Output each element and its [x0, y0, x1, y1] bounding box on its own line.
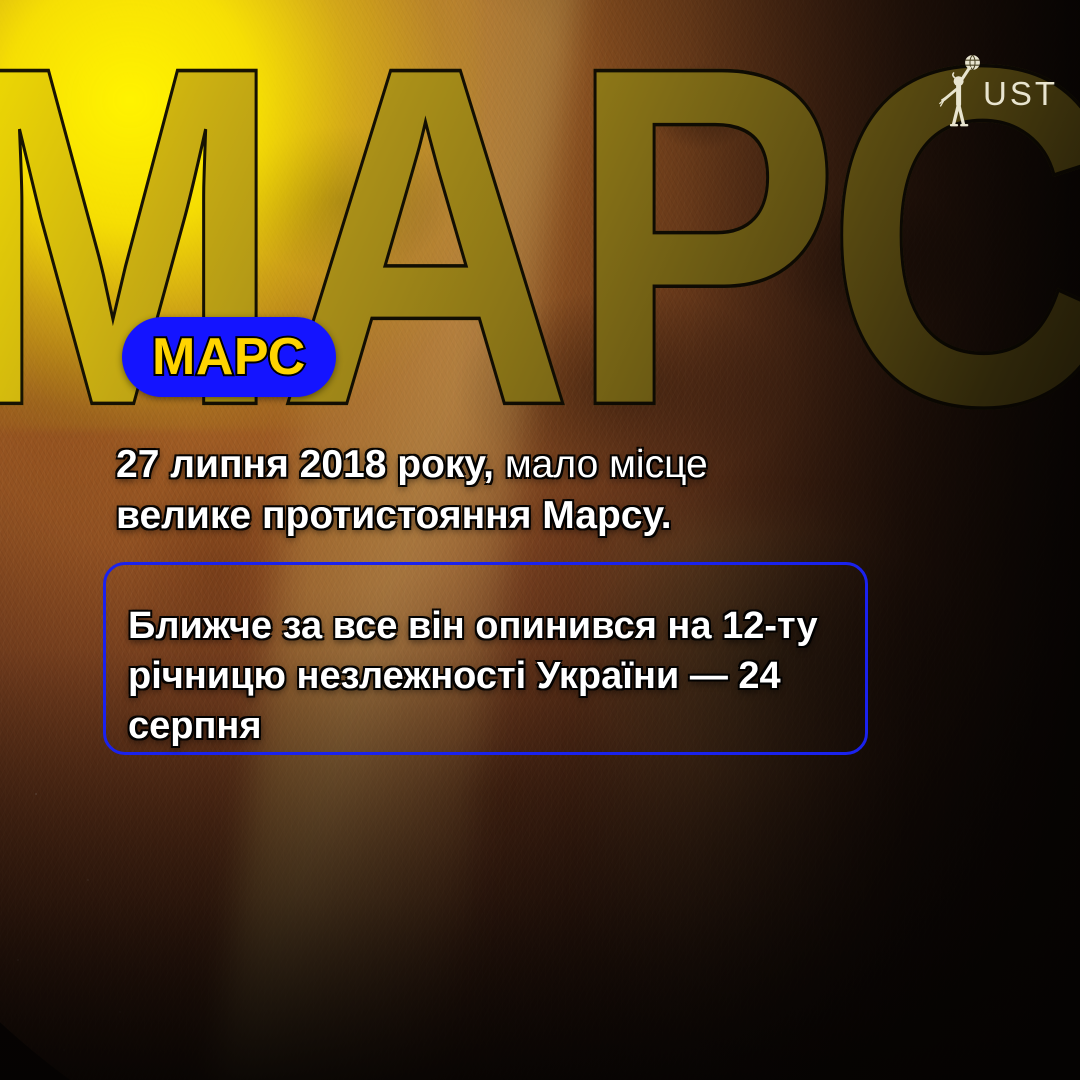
callout-text: Ближче за все він опинився на 12-ту річн…	[128, 601, 846, 751]
figure-holding-globe-icon	[939, 54, 985, 133]
lead-second-line: велике протистояння Марсу.	[116, 494, 672, 537]
logo-wordmark: UST	[983, 77, 1058, 110]
lead-normal-phrase: мало місце	[494, 443, 708, 486]
category-badge-label: МАРС	[152, 331, 306, 383]
brand-logo[interactable]: UST	[939, 54, 1058, 133]
lead-date-phrase: 27 липня 2018 року,	[116, 443, 494, 486]
callout-box: Ближче за все він опинився на 12-ту річн…	[103, 562, 868, 755]
lead-paragraph: 27 липня 2018 року, мало місце велике пр…	[116, 440, 896, 541]
infographic-canvas: МАРС	[0, 0, 1080, 1080]
category-badge[interactable]: МАРС	[122, 317, 336, 397]
